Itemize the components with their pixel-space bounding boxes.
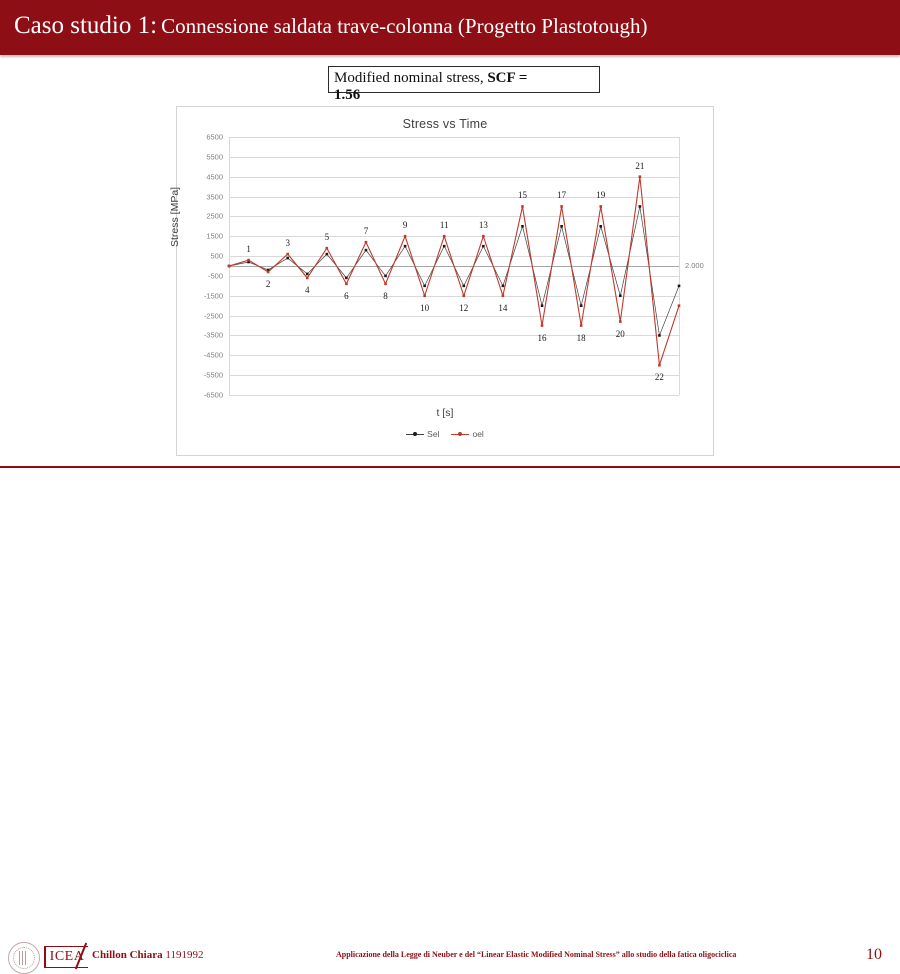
- data-point: [560, 205, 563, 208]
- legend-label: oel: [472, 429, 483, 439]
- data-point: [541, 304, 544, 307]
- callout-line1-bold: SCF =: [487, 70, 527, 86]
- data-point: [404, 245, 407, 248]
- data-point-label: 6: [344, 291, 349, 301]
- legend-swatch-icon: [451, 430, 469, 438]
- data-point: [365, 241, 368, 244]
- legend-item-Sel: Sel: [406, 429, 439, 439]
- data-point: [482, 245, 485, 248]
- data-point: [599, 225, 602, 228]
- y-axis-tick: 6500: [206, 133, 223, 142]
- data-point: [345, 283, 348, 286]
- data-point: [423, 294, 426, 297]
- data-point-label: 10: [420, 303, 429, 313]
- data-point-label: 21: [635, 161, 644, 171]
- series-line-oel: [229, 177, 679, 366]
- y-axis-tick: -3500: [204, 331, 223, 340]
- x-axis-title: t [s]: [177, 407, 713, 419]
- chart-container: Stress vs Time Stress [MPa] 650055004500…: [176, 106, 714, 456]
- y-axis-tick: -1500: [204, 291, 223, 300]
- data-point: [384, 283, 387, 286]
- callout-line2: 1.56: [334, 87, 360, 103]
- data-point: [306, 277, 309, 280]
- data-point-label: 17: [557, 190, 566, 200]
- data-point: [599, 205, 602, 208]
- data-point-label: 14: [498, 303, 507, 313]
- footer-author: Chillon Chiara 1191992: [92, 949, 203, 961]
- plot-right-border: [679, 137, 680, 395]
- data-point-label: 18: [577, 333, 586, 343]
- y-axis-tick: 1500: [206, 232, 223, 241]
- data-point: [326, 253, 329, 256]
- x-axis-tick: 2.000: [685, 261, 704, 270]
- data-point-label: 16: [538, 333, 547, 343]
- y-axis-tick: -5500: [204, 371, 223, 380]
- data-point: [678, 285, 681, 288]
- plot-area: 12345678910111213141516171819202122: [229, 137, 679, 395]
- data-point: [462, 285, 465, 288]
- data-point: [619, 294, 622, 297]
- legend-swatch-icon: [406, 430, 424, 438]
- footer-subject: Applicazione della Legge di Neuber e del…: [336, 950, 736, 959]
- data-point: [560, 225, 563, 228]
- data-point-label: 15: [518, 190, 527, 200]
- series-canvas: [229, 137, 679, 395]
- data-point: [619, 320, 622, 323]
- data-point: [639, 175, 642, 178]
- gridline: [229, 395, 679, 396]
- y-axis-tick: -2500: [204, 311, 223, 320]
- slide-title: Caso studio 1: Connessione saldata trave…: [14, 12, 647, 40]
- y-axis-tick: -6500: [204, 391, 223, 400]
- callout-line1: Modified nominal stress,: [334, 70, 487, 86]
- data-point-label: 3: [285, 238, 290, 248]
- data-point-label: 1: [246, 244, 251, 254]
- callout-text: Modified nominal stress, SCF = 1.56: [334, 70, 614, 104]
- data-point: [580, 304, 583, 307]
- data-point: [247, 259, 250, 262]
- university-seal-icon: [8, 942, 40, 974]
- chart-title: Stress vs Time: [177, 117, 713, 131]
- slide-title-main: Caso studio 1:: [14, 12, 157, 39]
- data-point: [639, 205, 642, 208]
- data-point-label: 2: [266, 279, 271, 289]
- y-axis-tick: -500: [208, 271, 223, 280]
- data-point: [267, 271, 270, 274]
- y-axis-tick: 2500: [206, 212, 223, 221]
- data-point: [502, 285, 505, 288]
- data-point: [658, 364, 661, 367]
- data-point: [658, 334, 661, 337]
- data-point: [482, 235, 485, 238]
- y-axis-tick-labels: 650055004500350025001500500-500-1500-250…: [177, 137, 227, 395]
- data-point-label: 7: [364, 226, 369, 236]
- data-point-label: 19: [596, 190, 605, 200]
- y-axis-tick: 5500: [206, 152, 223, 161]
- data-point-label: 4: [305, 285, 310, 295]
- footer: ICEA Chillon Chiara 1191992 Applicazione…: [0, 468, 900, 506]
- data-point: [365, 249, 368, 252]
- data-point: [521, 205, 524, 208]
- data-point: [443, 245, 446, 248]
- y-axis-tick: -4500: [204, 351, 223, 360]
- data-point-label: 11: [440, 220, 449, 230]
- data-point: [345, 277, 348, 280]
- data-point: [502, 294, 505, 297]
- slide-title-banner: Caso studio 1: Connessione saldata trave…: [0, 0, 900, 55]
- footer-page-number: 10: [866, 946, 882, 964]
- data-point: [678, 304, 681, 307]
- data-point-label: 9: [403, 220, 408, 230]
- legend-item-oel: oel: [451, 429, 483, 439]
- data-point: [423, 285, 426, 288]
- data-point: [404, 235, 407, 238]
- y-axis-tick: 500: [210, 252, 223, 261]
- data-point: [384, 275, 387, 278]
- data-point-label: 13: [479, 220, 488, 230]
- data-point: [443, 235, 446, 238]
- data-point-label: 8: [383, 291, 388, 301]
- legend-label: Sel: [427, 429, 439, 439]
- data-point-label: 5: [325, 232, 330, 242]
- footer-author-name: Chillon Chiara: [92, 949, 165, 961]
- slide-title-sub: Connessione saldata trave-colonna (Proge…: [161, 14, 647, 38]
- y-axis-tick: 4500: [206, 172, 223, 181]
- chart-legend: Seloel: [177, 429, 713, 439]
- data-point: [580, 324, 583, 327]
- data-point: [286, 257, 289, 260]
- data-point-label: 12: [459, 303, 468, 313]
- footer-author-id: 1191992: [165, 949, 203, 961]
- data-point: [286, 253, 289, 256]
- data-point: [521, 225, 524, 228]
- data-point: [462, 294, 465, 297]
- data-point: [326, 247, 329, 250]
- data-point: [228, 265, 231, 268]
- data-point-label: 22: [655, 372, 664, 382]
- data-point: [541, 324, 544, 327]
- data-point-label: 20: [616, 329, 625, 339]
- y-axis-tick: 3500: [206, 192, 223, 201]
- data-point: [306, 273, 309, 276]
